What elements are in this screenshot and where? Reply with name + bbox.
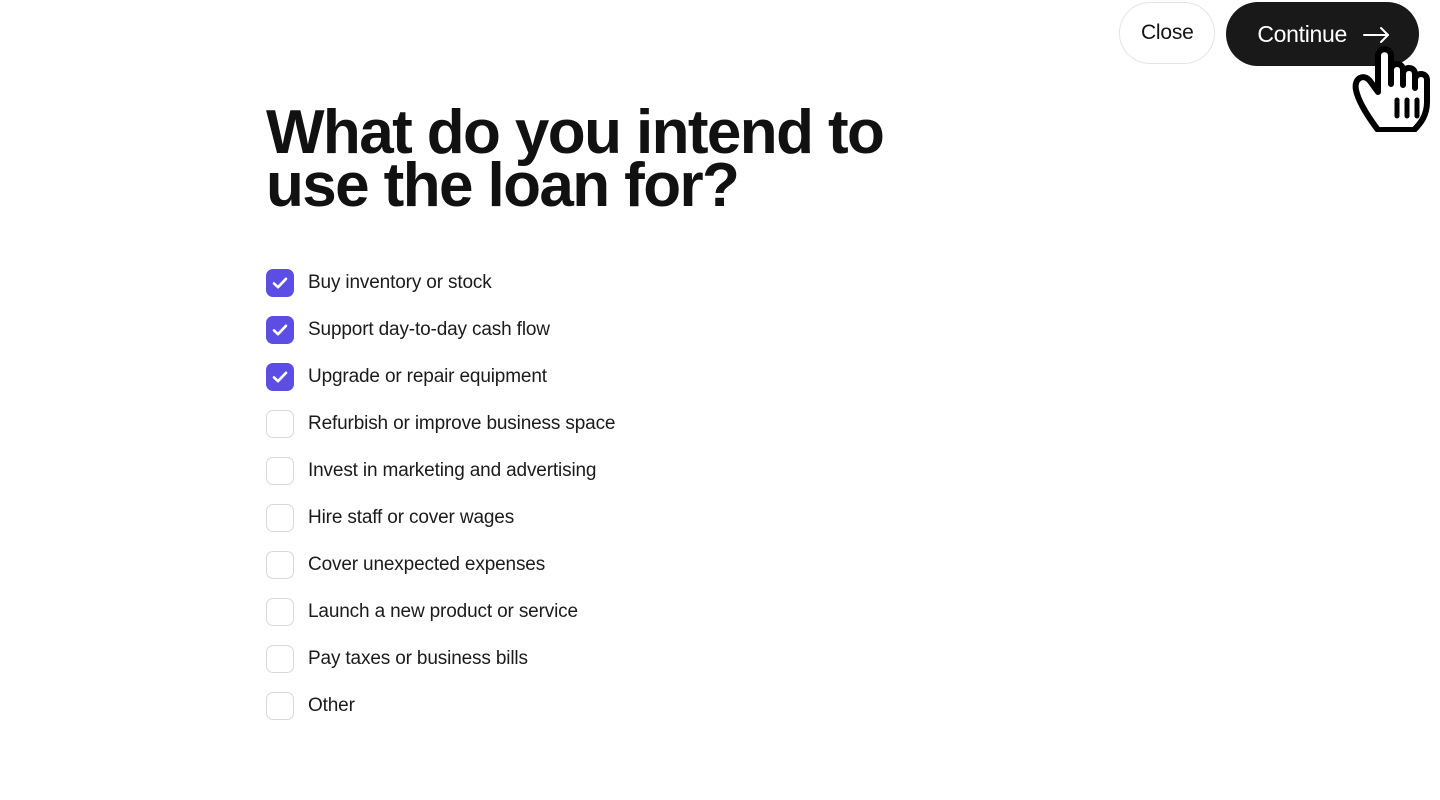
option-row[interactable]: Upgrade or repair equipment (266, 353, 547, 400)
checkbox-unchecked[interactable] (266, 551, 294, 579)
arrow-right-icon (1362, 25, 1392, 45)
option-label: Buy inventory or stock (308, 272, 492, 294)
option-label: Refurbish or improve business space (308, 413, 615, 435)
checkbox-checked[interactable] (266, 363, 294, 391)
checkbox-unchecked[interactable] (266, 504, 294, 532)
check-icon (271, 321, 289, 339)
checkbox-unchecked[interactable] (266, 457, 294, 485)
option-label: Hire staff or cover wages (308, 507, 514, 529)
option-row[interactable]: Invest in marketing and advertising (266, 447, 596, 494)
checkbox-unchecked[interactable] (266, 410, 294, 438)
loan-purpose-options: Buy inventory or stockSupport day-to-day… (266, 259, 1166, 729)
checkbox-unchecked[interactable] (266, 645, 294, 673)
continue-button-label: Continue (1257, 21, 1347, 48)
checkbox-unchecked[interactable] (266, 598, 294, 626)
option-row[interactable]: Refurbish or improve business space (266, 400, 615, 447)
check-icon (271, 274, 289, 292)
main-content: What do you intend to use the loan for? … (266, 106, 1166, 729)
option-row[interactable]: Buy inventory or stock (266, 259, 492, 306)
option-row[interactable]: Hire staff or cover wages (266, 494, 514, 541)
header-actions: Close Continue (1119, 2, 1419, 66)
check-icon (271, 368, 289, 386)
option-row[interactable]: Launch a new product or service (266, 588, 578, 635)
close-button[interactable]: Close (1119, 2, 1215, 64)
checkbox-unchecked[interactable] (266, 692, 294, 720)
option-label: Pay taxes or business bills (308, 648, 528, 670)
option-label: Other (308, 695, 355, 717)
option-label: Support day-to-day cash flow (308, 319, 550, 341)
option-label: Upgrade or repair equipment (308, 366, 547, 388)
checkbox-checked[interactable] (266, 316, 294, 344)
option-row[interactable]: Other (266, 682, 355, 729)
option-row[interactable]: Cover unexpected expenses (266, 541, 545, 588)
continue-button[interactable]: Continue (1226, 2, 1419, 66)
option-label: Launch a new product or service (308, 601, 578, 623)
page-title: What do you intend to use the loan for? (266, 106, 916, 212)
checkbox-checked[interactable] (266, 269, 294, 297)
option-label: Cover unexpected expenses (308, 554, 545, 576)
option-label: Invest in marketing and advertising (308, 460, 596, 482)
option-row[interactable]: Support day-to-day cash flow (266, 306, 550, 353)
option-row[interactable]: Pay taxes or business bills (266, 635, 528, 682)
close-button-label: Close (1141, 21, 1194, 45)
